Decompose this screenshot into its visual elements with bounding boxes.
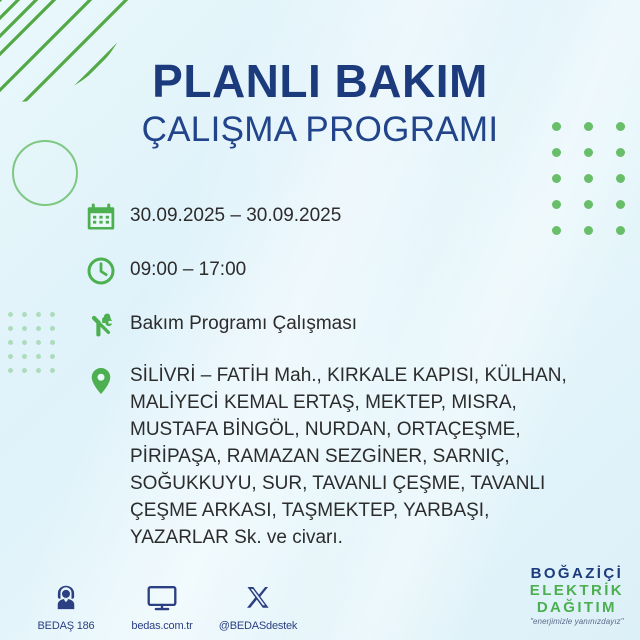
brand-line-elektrik: ELEKTRİK [530, 583, 624, 598]
bedas-brand-logo: BOĞAZİÇİ ELEKTRİK DAĞITIM "enerjimizle y… [530, 566, 624, 626]
headset-support-icon [18, 580, 114, 616]
poster-header: PLANLI BAKIM ÇALIŞMA PROGRAMI [0, 58, 640, 152]
brand-line-dagitim: DAĞITIM [530, 600, 624, 615]
info-row-date: 30.09.2025 – 30.09.2025 [84, 200, 584, 234]
contact-item-callcenter[interactable]: BEDAŞ 186 [18, 580, 114, 632]
clock-icon [84, 254, 118, 288]
contact-label-x: @BEDASdestek [210, 620, 306, 632]
info-list: 30.09.2025 – 30.09.2025 09:00 – 17:00 [84, 200, 584, 572]
contact-channels: BEDAŞ 186 bedas.com.tr @BEDASdestek [18, 580, 306, 632]
tools-icon [84, 308, 118, 342]
page-title: PLANLI BAKIM [0, 58, 640, 104]
poster-canvas: PLANLI BAKIM ÇALIŞMA PROGRAMI [0, 0, 640, 640]
calendar-icon [84, 200, 118, 234]
dot-grid-left-decoration [8, 312, 64, 382]
monitor-icon [114, 580, 210, 616]
brand-line-bogazici: BOĞAZİÇİ [530, 566, 624, 581]
contact-label-callcenter: BEDAŞ 186 [18, 620, 114, 632]
info-row-time: 09:00 – 17:00 [84, 254, 584, 288]
contact-item-x[interactable]: @BEDASdestek [210, 580, 306, 632]
work-type-text: Bakım Programı Çalışması [130, 308, 357, 336]
info-row-worktype: Bakım Programı Çalışması [84, 308, 584, 342]
poster-footer: BEDAŞ 186 bedas.com.tr @BEDASdestek [0, 560, 640, 640]
address-text: SİLİVRİ – FATİH Mah., KIRKALE KAPISI, KÜ… [130, 362, 584, 552]
contact-label-website: bedas.com.tr [114, 620, 210, 632]
info-row-address: SİLİVRİ – FATİH Mah., KIRKALE KAPISI, KÜ… [84, 362, 584, 552]
time-range-text: 09:00 – 17:00 [130, 254, 246, 282]
location-pin-icon [84, 362, 118, 398]
x-twitter-icon [210, 580, 306, 616]
brand-tagline: "enerjimizle yanınızdayız" [530, 618, 624, 626]
page-subtitle: ÇALIŞMA PROGRAMI [0, 108, 640, 152]
date-range-text: 30.09.2025 – 30.09.2025 [130, 200, 341, 228]
contact-item-website[interactable]: bedas.com.tr [114, 580, 210, 632]
